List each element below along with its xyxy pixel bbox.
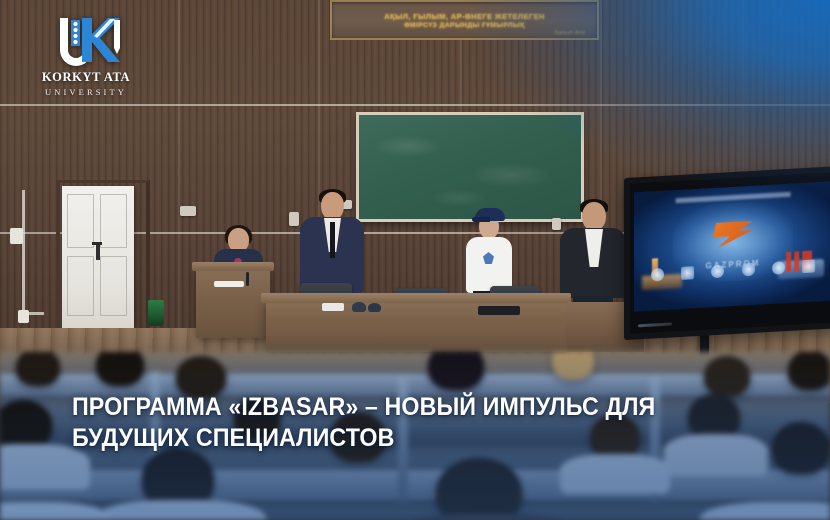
slide-icon-marker <box>772 261 785 275</box>
logo-subtitle: UNIVERSITY <box>30 87 142 97</box>
papers-on-table <box>322 303 344 311</box>
wall-conduit <box>22 190 25 314</box>
door-handle-icon <box>92 242 102 245</box>
door-panel <box>67 256 94 316</box>
university-logo-watermark: KORKYT ATA UNIVERSITY <box>30 14 142 102</box>
logo-name: KORKYT ATA <box>30 70 142 85</box>
white-double-door <box>62 186 134 328</box>
door-panel <box>100 194 127 248</box>
microphone-icon <box>246 272 249 286</box>
blue-gradient-overlay-top-right <box>410 0 830 230</box>
slide-icon-tower <box>681 266 694 280</box>
wall-seam <box>178 0 180 352</box>
wall-speaker-icon <box>180 206 196 216</box>
cup <box>352 302 366 312</box>
slide-icon-emblem <box>802 259 815 273</box>
speaker-podium <box>196 268 270 338</box>
green-trash-bin <box>148 300 164 326</box>
door-panel <box>67 194 94 248</box>
door-panel <box>100 256 127 316</box>
papers-on-podium <box>214 281 244 287</box>
wall-socket <box>18 310 29 323</box>
torso <box>466 237 512 293</box>
wall-socket <box>10 228 23 244</box>
slide-icon-badge <box>711 264 724 278</box>
laptop <box>478 306 520 315</box>
headline-text: ПРОГРАММА «IZBASAR» – НОВЫЙ ИМПУЛЬС ДЛЯ … <box>72 392 751 453</box>
door-lock-plate <box>96 244 100 260</box>
head <box>321 192 344 220</box>
tie <box>330 222 335 258</box>
slide-icon-globe <box>651 267 664 281</box>
wall-speaker-icon <box>289 212 299 226</box>
article-hero-image: АҚЫЛ, ҒЫЛЫМ, АР-ӨНЕГЕ ЖЕТЕЛЕГЕН ӨМІРСҮЗ … <box>0 0 830 520</box>
slide-icon-shield <box>742 262 755 276</box>
korkyt-ata-uk-monogram-icon <box>30 14 142 74</box>
cup <box>368 303 381 312</box>
